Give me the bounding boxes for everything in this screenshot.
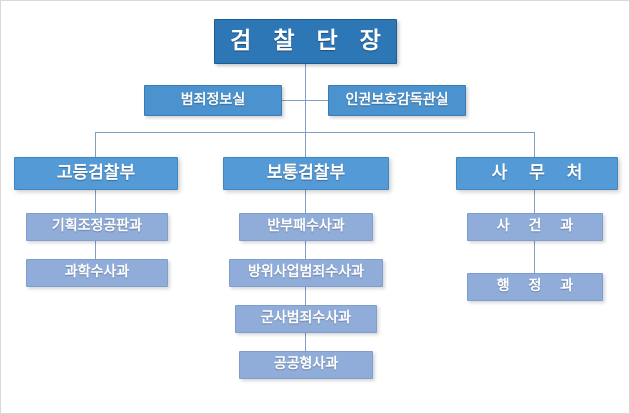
node-division-military-crime-investigation[interactable]: 군사범죄수사과 (235, 305, 377, 333)
connector-spine-col-3-b (534, 241, 535, 273)
connector-spine-col-1-b (95, 241, 96, 259)
node-staff-crime-intelligence[interactable]: 범죄정보실 (144, 85, 282, 116)
node-department-administration-office[interactable]: 사 무 처 (456, 157, 618, 190)
connector-drop-dept-2 (305, 132, 306, 157)
connector-spine-col-3-a (534, 190, 535, 213)
connector-department-bar (95, 132, 534, 133)
org-chart: 검 찰 단 장 범죄정보실 인권보호감독관실 고등검찰부 보통검찰부 사 무 처… (0, 0, 630, 414)
connector-staff-crossbar (282, 100, 328, 101)
node-department-general-prosecution[interactable]: 보통검찰부 (223, 157, 389, 190)
connector-spine-col-2-c (305, 287, 306, 305)
node-division-planning-coordination-trial[interactable]: 기획조정공판과 (26, 213, 168, 241)
node-division-anti-corruption-investigation[interactable]: 반부패수사과 (239, 213, 373, 241)
connector-drop-dept-1 (95, 132, 96, 157)
connector-spine-col-2-b (305, 241, 306, 259)
node-division-defense-acquisition-crime-investigation[interactable]: 방위사업범죄수사과 (229, 259, 383, 287)
node-division-forensic-investigation[interactable]: 과학수사과 (26, 259, 168, 287)
node-division-public-criminal-affairs[interactable]: 공공형사과 (239, 351, 373, 379)
connector-spine-col-1-a (95, 190, 96, 213)
node-division-case-affairs[interactable]: 사 건 과 (467, 213, 603, 241)
node-root[interactable]: 검 찰 단 장 (214, 19, 397, 64)
connector-root-trunk (305, 63, 306, 133)
node-staff-human-rights[interactable]: 인권보호감독관실 (328, 85, 466, 116)
connector-spine-col-2-a (305, 190, 306, 213)
node-department-high-prosecution[interactable]: 고등검찰부 (14, 157, 178, 190)
connector-spine-col-2-d (305, 333, 306, 351)
node-division-general-administration[interactable]: 행 정 과 (467, 273, 603, 301)
connector-drop-dept-3 (534, 132, 535, 157)
